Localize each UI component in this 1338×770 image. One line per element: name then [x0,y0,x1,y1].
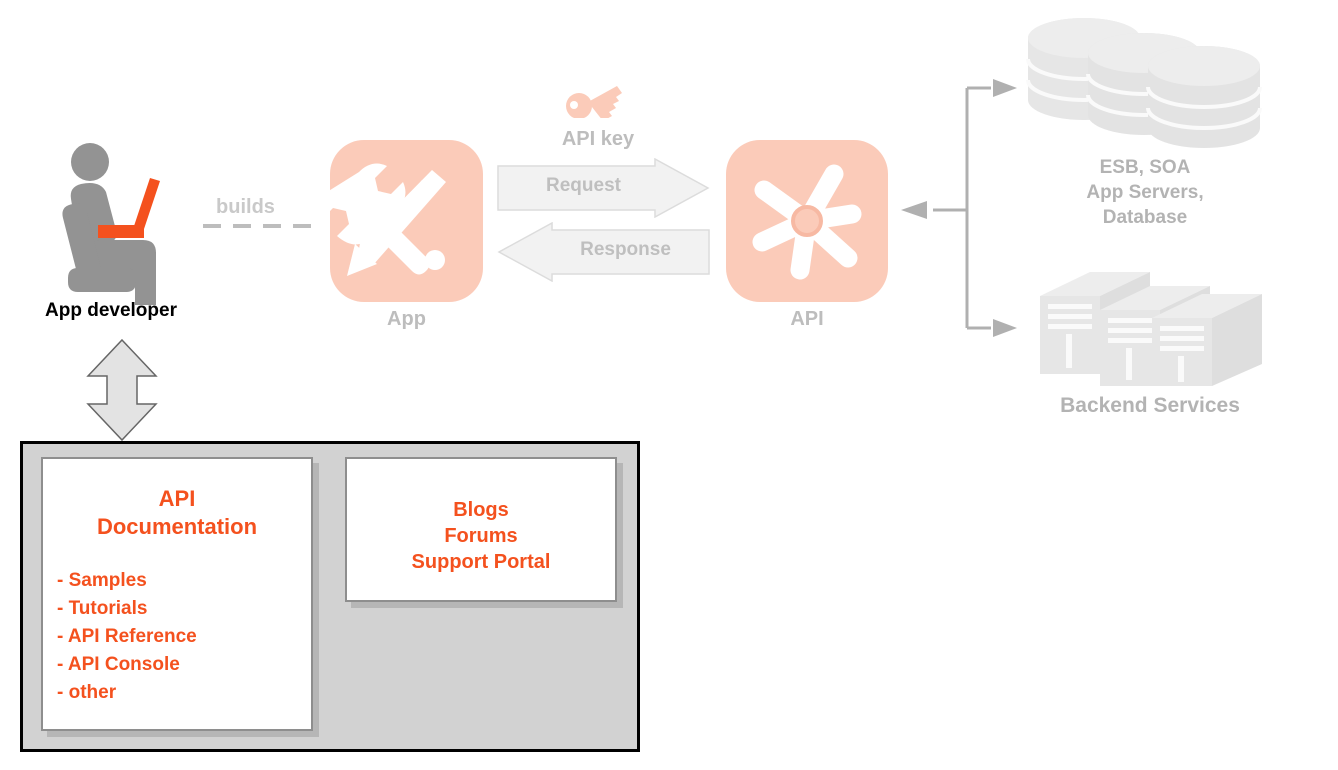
database-stack-icon [1026,18,1266,148]
developer-label: App developer [0,300,222,322]
arrowhead-to-databases [993,79,1017,97]
api-documentation-card-list: - Samples - Tutorials - API Reference - … [57,567,311,707]
diagram-canvas: App developer builds App [0,0,1338,770]
response-arrow: Response [497,222,710,282]
app-tile[interactable] [330,140,483,302]
seated-developer-with-laptop-icon [55,140,190,305]
community-card[interactable]: Blogs Forums Support Portal [345,457,617,602]
list-item[interactable]: - other [57,679,311,707]
api-documentation-card-title: API Documentation [43,485,311,541]
api-backend-connectors [895,70,1020,345]
key-icon [565,84,625,118]
request-arrow-label: Request [477,175,690,197]
list-item[interactable]: - API Console [57,651,311,679]
arrowhead-to-servers [993,319,1017,337]
server-racks-icon [1032,264,1264,386]
list-item[interactable]: - Tutorials [57,595,311,623]
api-tile[interactable] [726,140,888,302]
response-arrow-label: Response [519,239,732,261]
list-item[interactable]: - API Reference [57,623,311,651]
api-documentation-card[interactable]: API Documentation - Samples - Tutorials … [41,457,313,731]
request-arrow: Request [497,158,710,218]
arrowhead-to-api [901,201,927,219]
app-label: App [330,308,483,331]
backend-esb-soa-label: ESB, SOA App Servers, Database [1020,155,1270,230]
developer-portal-double-arrow [84,338,160,442]
community-card-title: Blogs Forums Support Portal [347,497,615,575]
backend-services-label: Backend Services [1010,393,1290,418]
builds-label: builds [193,196,298,219]
builds-dashed-connector [203,224,318,228]
developer-portal-panel: API Documentation - Samples - Tutorials … [20,441,640,752]
api-label: API [726,308,888,331]
api-key-label: API key [528,128,668,151]
list-item[interactable]: - Samples [57,567,311,595]
